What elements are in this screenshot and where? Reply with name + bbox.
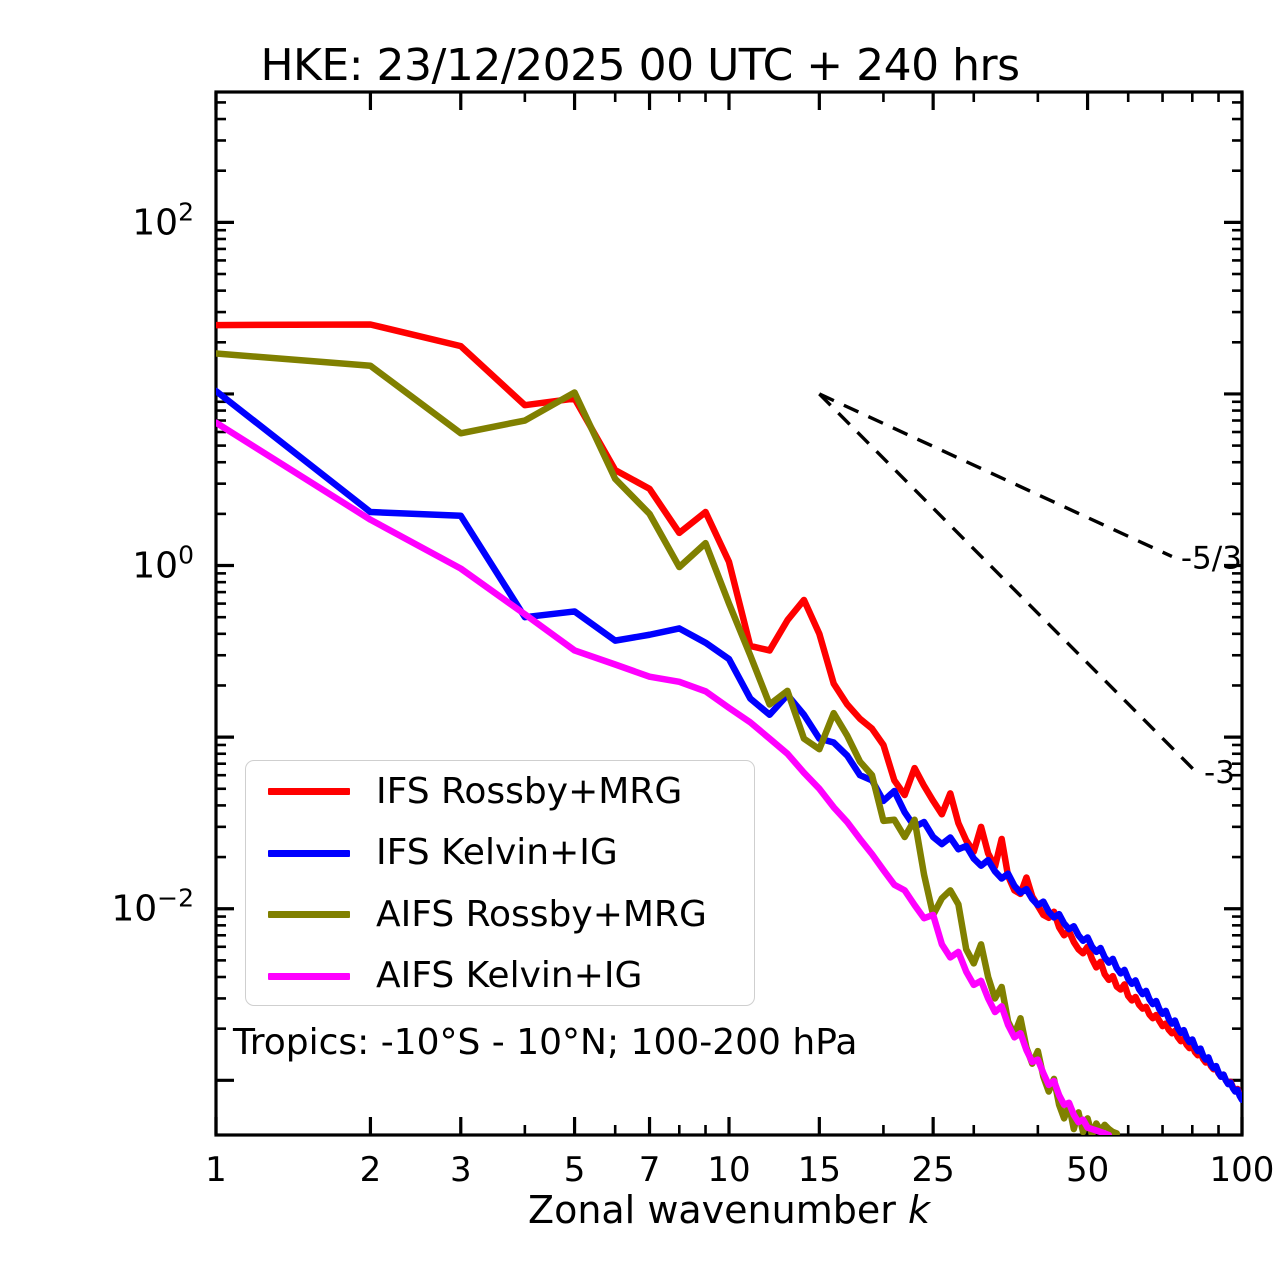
x-tick-label: 10 (707, 1150, 750, 1190)
x-tick-label: 1 (205, 1150, 227, 1190)
legend-label-aifs-rossby-mrg: AIFS Rossby+MRG (376, 897, 707, 933)
reference-slope-line (819, 394, 1172, 556)
legend-item-ifs-rossby-mrg[interactable]: IFS Rossby+MRG (246, 761, 754, 823)
x-tick-label: 5 (564, 1150, 586, 1190)
reference-slope-line (819, 394, 1195, 771)
x-tick-label: 7 (639, 1150, 661, 1190)
y-tick-label: 100 (132, 541, 194, 587)
y-tick-label: 10−2 (111, 884, 194, 930)
legend-swatch-aifs-rossby-mrg (268, 911, 350, 918)
y-tick-label: 102 (132, 197, 194, 243)
region-annotation: Tropics: -10°S - 10°N; 100-200 hPa (233, 1022, 857, 1063)
series-line-aifs-rossby-mrg (216, 354, 1117, 1135)
legend-label-aifs-kelvin-ig: AIFS Kelvin+IG (376, 958, 642, 994)
x-axis-label-text: Zonal wavenumber (528, 1188, 908, 1232)
legend-label-ifs-kelvin-ig: IFS Kelvin+IG (376, 835, 618, 871)
x-axis-label: Zonal wavenumber k (216, 1188, 1242, 1232)
legend: IFS Rossby+MRG IFS Kelvin+IG AIFS Rossby… (245, 760, 755, 1006)
x-tick-label: 100 (1210, 1150, 1275, 1190)
legend-swatch-ifs-rossby-mrg (268, 788, 350, 795)
legend-swatch-aifs-kelvin-ig (268, 973, 350, 980)
plot-canvas: 123571015255010010210010−2-5/3-3 (0, 0, 1280, 1288)
x-tick-label: 3 (450, 1150, 472, 1190)
reference-slope-label: -5/3 (1181, 540, 1242, 576)
reference-slope-label: -3 (1204, 755, 1235, 791)
legend-item-aifs-kelvin-ig[interactable]: AIFS Kelvin+IG (246, 946, 754, 1008)
x-tick-label: 50 (1066, 1150, 1109, 1190)
x-tick-label: 25 (912, 1150, 955, 1190)
x-tick-label: 15 (798, 1150, 841, 1190)
chart-page: HKE: 23/12/2025 00 UTC + 240 hrs 1235710… (0, 0, 1280, 1288)
x-axis-label-symbol: k (908, 1188, 930, 1232)
legend-label-ifs-rossby-mrg: IFS Rossby+MRG (376, 774, 682, 810)
legend-item-ifs-kelvin-ig[interactable]: IFS Kelvin+IG (246, 823, 754, 885)
legend-swatch-ifs-kelvin-ig (268, 850, 350, 857)
x-tick-label: 2 (360, 1150, 382, 1190)
legend-item-aifs-rossby-mrg[interactable]: AIFS Rossby+MRG (246, 884, 754, 946)
